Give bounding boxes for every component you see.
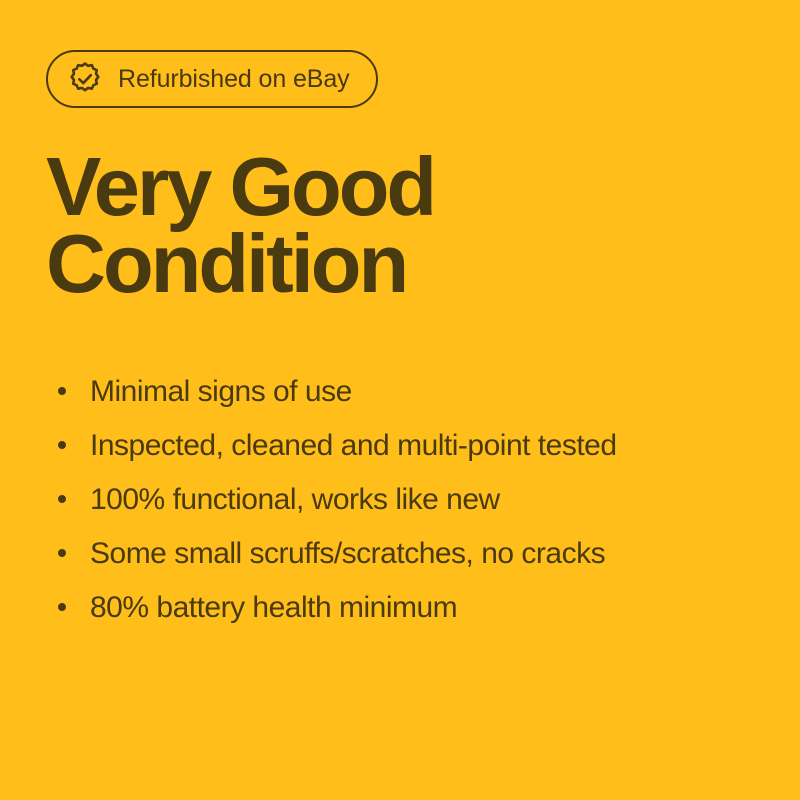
bullet-dot-icon [58, 441, 66, 449]
list-item: Inspected, cleaned and multi-point teste… [46, 418, 776, 472]
list-item-label: Minimal signs of use [90, 375, 352, 408]
list-item-label: Inspected, cleaned and multi-point teste… [90, 429, 617, 462]
list-item-label: 100% functional, works like new [90, 483, 500, 516]
verified-rosette-check-icon [68, 62, 102, 96]
bullet-dot-icon [58, 549, 66, 557]
bullet-dot-icon [58, 387, 66, 395]
list-item: 100% functional, works like new [46, 472, 776, 526]
bullet-dot-icon [58, 495, 66, 503]
list-item-label: Some small scruffs/scratches, no cracks [90, 537, 605, 570]
refurbished-badge-label: Refurbished on eBay [118, 67, 350, 92]
list-item-label: 80% battery health minimum [90, 591, 457, 624]
refurbished-badge: Refurbished on eBay [46, 50, 378, 108]
list-item: Some small scruffs/scratches, no cracks [46, 526, 776, 580]
condition-feature-list: Minimal signs of use Inspected, cleaned … [46, 364, 776, 634]
list-item: 80% battery health minimum [46, 580, 776, 634]
refurbished-condition-card: Refurbished on eBay Very Good Condition … [0, 0, 800, 800]
page-title-line-1: Very Good [46, 148, 746, 225]
bullet-dot-icon [58, 603, 66, 611]
page-title-line-2: Condition [46, 225, 746, 302]
page-title: Very Good Condition [46, 148, 746, 302]
list-item: Minimal signs of use [46, 364, 776, 418]
